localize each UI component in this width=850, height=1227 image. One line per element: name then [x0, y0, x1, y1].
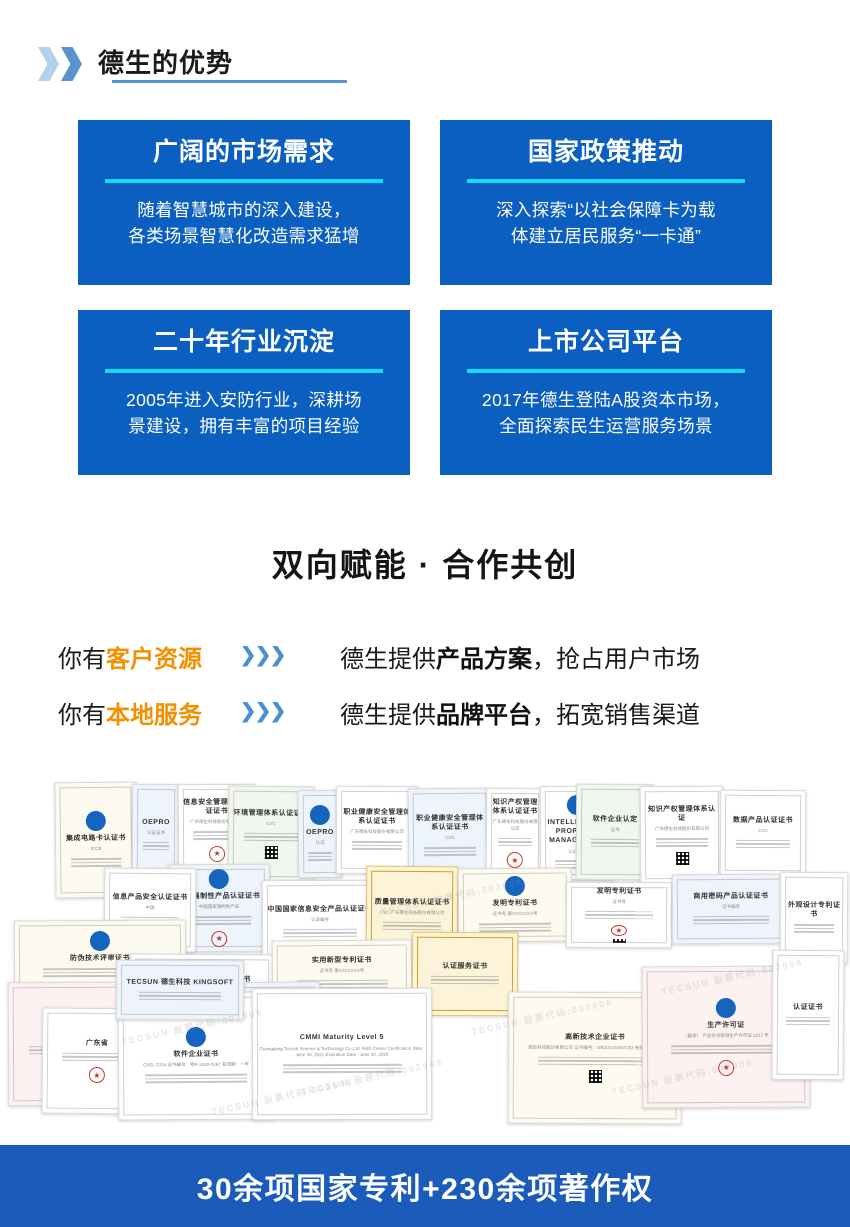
card-body-line: 深入探索“以社会保障卡为载: [460, 197, 752, 223]
advantage-card-grid: 广阔的市场需求 随着智慧城市的深入建设， 各类场景智慧化改造需求猛增 国家政策推…: [78, 120, 772, 480]
card-title: 上市公司平台: [460, 328, 752, 357]
synergy-right-bold: 品牌平台: [436, 702, 532, 729]
synergy-right-prefix: 德生提供: [340, 646, 436, 673]
certificate-card: 发明专利证书证书号★: [566, 882, 672, 949]
certificate-frame: [725, 795, 801, 871]
synergy-title: 双向赋能 · 合作共创: [0, 540, 850, 586]
certificate-card: CMMI Maturity Level 5Guangdong Tecsun Sc…: [252, 988, 432, 1121]
certificate-frame: [303, 795, 338, 873]
synergy-left-highlight: 本地服务: [106, 702, 202, 729]
certificate-frame: [645, 791, 720, 880]
synergy-left-highlight: 客户资源: [106, 646, 202, 673]
synergy-left-prefix: 你有: [58, 702, 106, 729]
card-title: 国家政策推动: [460, 138, 752, 167]
certificate-frame: [463, 873, 568, 938]
advantage-card: 国家政策推动 深入探索“以社会保障卡为载 体建立居民服务“一卡通”: [440, 120, 772, 285]
synergy-right-prefix: 德生提供: [340, 702, 436, 729]
synergy-right-suffix: ，拓宽销售渠道: [532, 702, 700, 729]
synergy-row: 你有客户资源 德生提供产品方案，抢占用户市场: [0, 628, 850, 684]
certificate-card: 认证证书: [772, 950, 845, 1080]
chevron-right-icon: [272, 702, 284, 723]
certificate-card: TECSUN 德生科技 KINGSOFT: [116, 960, 244, 1021]
card-body: 深入探索“以社会保障卡为载 体建立居民服务“一卡通”: [460, 197, 752, 250]
advantage-card: 上市公司平台 2017年德生登陆A股资本市场， 全面探索民生运营服务场景: [440, 310, 772, 475]
card-body-line: 2017年德生登陆A股资本市场，: [460, 387, 752, 413]
synergy-row-list: 你有客户资源 德生提供产品方案，抢占用户市场 你有本地服务 德生提供品牌平台，拓…: [0, 628, 850, 740]
page-title: 德生的优势: [98, 50, 233, 78]
header-chevrons: [38, 47, 82, 81]
synergy-row: 你有本地服务 德生提供品牌平台，拓宽销售渠道: [0, 684, 850, 740]
certificate-card: 知识产权管理体系认证证书广东德生科技股份有限公司★: [486, 788, 545, 878]
chevron-right-icon: [272, 646, 284, 667]
synergy-row-left: 你有本地服务: [58, 695, 228, 730]
synergy-arrows: [242, 702, 284, 723]
certificate-collage: 集成电路卡认证书ICCBOEPRO认证证书信息安全管理体系认证证书广东德生科技股…: [0, 770, 850, 1145]
synergy-row-right: 德生提供产品方案，抢占用户市场: [340, 639, 700, 674]
synergy-row-right: 德生提供品牌平台，拓宽销售渠道: [340, 695, 700, 730]
card-body-line: 景建设，拥有丰富的项目经验: [98, 413, 390, 439]
certificate-frame: [777, 955, 840, 1075]
chevron-right-light-icon: [38, 47, 59, 81]
certificate-card: 职业健康安全管理体系认证证书广东德生科技股份有限公司: [336, 786, 418, 874]
page-root: 德生的优势 广阔的市场需求 随着智慧城市的深入建设， 各类场景智慧化改造需求猛增…: [0, 0, 850, 1227]
card-body-line: 全面探索民生运营服务场景: [460, 413, 752, 439]
card-divider: [467, 179, 745, 183]
synergy-row-left: 你有客户资源: [58, 639, 228, 674]
chevron-right-dark-icon: [61, 47, 82, 81]
synergy-left-prefix: 你有: [58, 646, 106, 673]
synergy-right-bold: 产品方案: [436, 646, 532, 673]
card-body-line: 各类场景智慧化改造需求猛增: [98, 223, 390, 249]
synergy-right-suffix: ，抢占用户市场: [532, 646, 700, 673]
chevron-right-icon: [257, 646, 269, 667]
certificate-frame: [121, 965, 239, 1016]
card-body: 2017年德生登陆A股资本市场， 全面探索民生运营服务场景: [460, 387, 752, 440]
card-body-line: 随着智慧城市的深入建设，: [98, 197, 390, 223]
certificate-card: 商用密码产品认证证书证书编号: [672, 874, 790, 945]
chevron-right-icon: [242, 646, 254, 667]
certificate-frame: [257, 993, 427, 1116]
certificate-frame: [491, 793, 540, 873]
footer-banner-text: 30余项国家专利+230余项著作权: [197, 1164, 653, 1208]
card-body-line: 体建立居民服务“一卡通”: [460, 223, 752, 249]
card-divider: [105, 179, 383, 183]
card-body: 随着智慧城市的深入建设， 各类场景智慧化改造需求猛增: [98, 197, 390, 250]
footer-banner: 30余项国家专利+230余项著作权: [0, 1145, 850, 1227]
certificate-frame: [571, 887, 667, 944]
card-body: 2005年进入安防行业，深耕场 景建设，拥有丰富的项目经验: [98, 387, 390, 440]
card-body-line: 2005年进入安防行业，深耕场: [98, 387, 390, 413]
advantage-card: 广阔的市场需求 随着智慧城市的深入建设， 各类场景智慧化改造需求猛增: [78, 120, 410, 285]
synergy-arrows: [242, 646, 284, 667]
card-title: 二十年行业沉淀: [98, 328, 390, 357]
title-underline: [112, 80, 347, 83]
chevron-right-icon: [257, 702, 269, 723]
certificate-card: 知识产权管理体系认证广东德生科技股份有限公司: [640, 786, 725, 885]
card-divider: [467, 369, 745, 373]
card-title: 广阔的市场需求: [98, 138, 390, 167]
chevron-right-icon: [242, 702, 254, 723]
certificate-frame: [341, 791, 413, 869]
advantage-card: 二十年行业沉淀 2005年进入安防行业，深耕场 景建设，拥有丰富的项目经验: [78, 310, 410, 475]
certificate-frame: [677, 879, 785, 940]
certificate-card: 数据产品认证证书CVC: [720, 790, 806, 876]
certificate-frame: [785, 877, 844, 959]
card-divider: [105, 369, 383, 373]
